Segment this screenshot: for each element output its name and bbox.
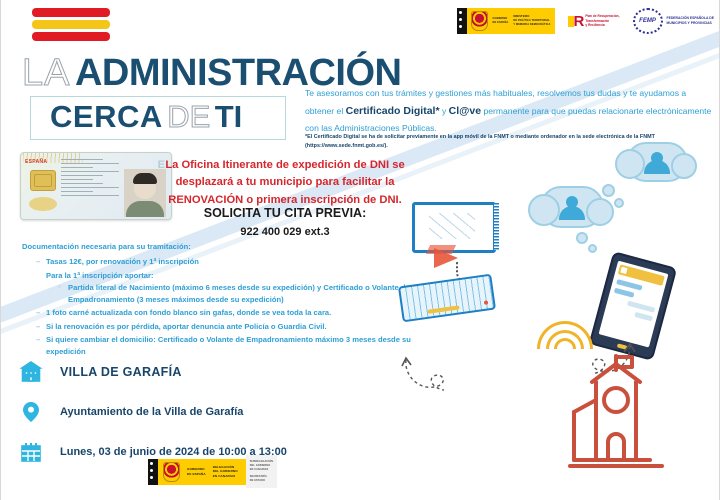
sub-intro: Para la 1ª inscripción aportar: <box>36 270 412 282</box>
subtitle-word-ti: TI <box>215 99 243 134</box>
gobierno-stripe-icon <box>457 8 467 34</box>
footer-gobierno-line1: GOBIERNO <box>187 467 206 472</box>
coat-of-arms-icon <box>163 462 180 482</box>
notice-line-2: desplazará a tu municipio para facilitar… <box>160 174 410 191</box>
bubble-icon <box>576 232 588 244</box>
dni-text-lines <box>61 159 119 199</box>
list-item: Tasas 12€, por renovación y 1ª inscripci… <box>36 256 412 268</box>
femp-line2: MUNICIPIOS Y PROVINCIAS <box>667 21 714 26</box>
spain-flag-icon <box>32 8 110 44</box>
appointment-label: SOLICITA TU CITA PREVIA: <box>160 206 410 220</box>
footer-gobierno-line2: DE ESPAÑA <box>187 472 206 477</box>
femp-logo: FEMP FEDERACIÓN ESPAÑOLA DE MUNICIPIOS Y… <box>633 8 714 34</box>
appointment-phone: 922 400 029 ext.3 <box>160 226 410 238</box>
list-item: Partida literal de Nacimiento (máximo 6 … <box>58 282 412 307</box>
gobierno-line2: DE ESPAÑA <box>493 21 509 25</box>
dni-seal-icon <box>29 197 57 211</box>
illustration-group <box>390 140 720 500</box>
footer-delegacion-line3: EN CANARIAS <box>213 474 238 479</box>
town-hall-icon <box>18 359 44 385</box>
prtr-letter: R <box>573 13 582 30</box>
institutional-logos-top: GOBIERNO DE ESPAÑA MINISTERIO DE POLÍTIC… <box>457 8 715 34</box>
femp-acronym: FEMP <box>639 18 656 24</box>
venue-place: Ayuntamiento de la Villa de Garafía <box>60 406 243 418</box>
prtr-line1: Plan de Recuperación, <box>585 14 619 19</box>
gobierno-stripe-icon <box>148 459 158 485</box>
venue-municipality-row: VILLA DE GARAFÍA <box>18 352 358 392</box>
map-pin-icon <box>18 399 44 425</box>
documentation-list: Tasas 12€, por renovación y 1ª inscripci… <box>22 256 412 358</box>
prtr-mark-icon: R <box>568 13 582 30</box>
intro-mid: y <box>440 106 449 116</box>
calendar-icon <box>18 439 44 465</box>
dni-chip-icon <box>30 170 56 191</box>
cloud-user-icon <box>626 142 688 182</box>
bubble-icon <box>602 184 615 197</box>
dni-office-notice: La Oficina Itinerante de expedición de D… <box>160 157 410 209</box>
subtitle-word-cerca: CERCA <box>50 99 163 134</box>
swirl-arrow-left-icon <box>398 352 468 402</box>
bubble-icon <box>614 198 624 208</box>
red-arrow-head-icon <box>434 248 458 268</box>
venue-place-row: Ayuntamiento de la Villa de Garafía <box>18 392 358 432</box>
documentation-sublist: Partida literal de Nacimiento (máximo 6 … <box>36 282 412 307</box>
list-item: 1 foto carné actualizada con fondo blanc… <box>36 307 412 319</box>
venue-municipality: VILLA DE GARAFÍA <box>60 365 182 379</box>
footer-side-text: SUBDELEGACIÓN DEL GOBIERNO EN CANARIAS S… <box>246 455 277 488</box>
intro-clave: Cl@ve <box>449 105 481 117</box>
femp-stars-icon: FEMP <box>633 8 663 34</box>
cloud-user-icon <box>540 186 604 228</box>
prtr-line3: y Resiliencia <box>585 23 619 28</box>
footer-side-line3: EN CANARIAS <box>250 468 273 472</box>
notice-line-1: La Oficina Itinerante de expedición de D… <box>160 157 410 174</box>
footer-institutional-logo: GOBIERNO DE ESPAÑA DELEGACIÓN DEL GOBIER… <box>148 458 277 485</box>
poster-canvas: GOBIERNO DE ESPAÑA MINISTERIO DE POLÍTIC… <box>0 0 720 500</box>
list-item: Si la renovación es por pérdida, aportar… <box>36 321 412 333</box>
gobierno-de-espana-logo: GOBIERNO DE ESPAÑA MINISTERIO DE POLÍTIC… <box>457 8 556 34</box>
footer-side-line5: DE ESTADO <box>250 479 273 483</box>
title-word-la: LA <box>22 52 70 94</box>
bubble-icon <box>588 244 597 253</box>
dni-card-image: ESPAÑA E <box>20 152 172 220</box>
page-subtitle: CERCA DE TI <box>50 99 242 135</box>
documentation-section: Documentación necesaria para su tramitac… <box>22 241 412 360</box>
intro-paragraph: Te asesoramos con tus trámites y gestion… <box>305 86 713 137</box>
coat-of-arms-icon <box>471 11 488 31</box>
dni-country-label: ESPAÑA <box>25 159 47 165</box>
ministerio-line3: Y MEMORIA DEMOCRÁTICA <box>513 23 550 27</box>
venue-section: VILLA DE GARAFÍA Ayuntamiento de la Vill… <box>18 352 358 472</box>
documentation-title: Documentación necesaria para su tramitac… <box>22 241 412 253</box>
town-hall-illustration <box>558 348 674 478</box>
keyboard-icon <box>398 274 496 323</box>
subtitle-word-de: DE <box>167 99 210 134</box>
plan-recuperacion-logo: R Plan de Recuperación, Transformación y… <box>568 13 619 30</box>
intro-certificado-digital: Certificado Digital* <box>346 105 440 117</box>
